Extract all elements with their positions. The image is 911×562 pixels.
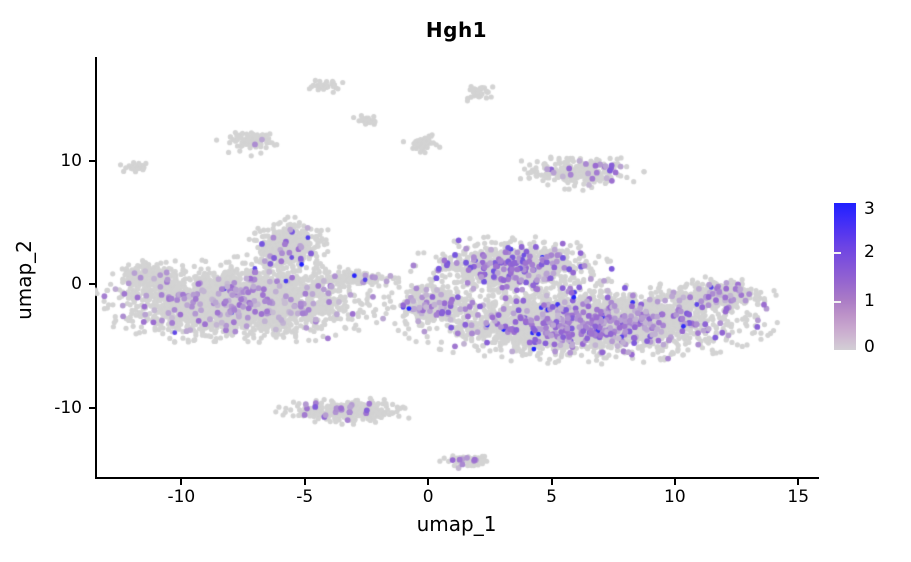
x-tick-mark: [797, 479, 799, 485]
x-tick-label: 10: [664, 487, 686, 507]
colorbar-tick-label: 0: [864, 337, 875, 357]
colorbar: 0123: [834, 203, 904, 350]
y-tick-mark: [89, 283, 95, 285]
colorbar-tick-mark: [834, 252, 841, 254]
y-tick-mark: [89, 407, 95, 409]
colorbar-tick-label: 1: [864, 291, 875, 311]
y-tick-label: -10: [54, 398, 82, 418]
colorbar-tick-label: 2: [864, 242, 875, 262]
y-tick-label: 0: [71, 274, 82, 294]
x-tick-label: 5: [546, 487, 557, 507]
scatter-canvas: [95, 57, 818, 478]
x-tick-mark: [551, 479, 553, 485]
x-tick-mark: [427, 479, 429, 485]
x-tick-label: -10: [167, 487, 195, 507]
y-tick-mark: [89, 160, 95, 162]
umap-feature-plot: Hgh1 -10-5051015 -10010 umap_1 umap_2 01…: [0, 0, 911, 562]
page-title: Hgh1: [95, 18, 818, 42]
x-tick-label: 0: [423, 487, 434, 507]
x-tick-label: -5: [296, 487, 313, 507]
plot-area: [95, 57, 818, 478]
x-tick-mark: [304, 479, 306, 485]
x-axis-label: umap_1: [95, 512, 818, 536]
colorbar-tick-mark: [834, 301, 841, 303]
colorbar-gradient: [834, 203, 856, 350]
x-tick-mark: [674, 479, 676, 485]
y-axis-label: umap_2: [12, 180, 36, 380]
x-tick-label: 15: [787, 487, 809, 507]
x-tick-mark: [180, 479, 182, 485]
y-tick-label: 10: [60, 151, 82, 171]
colorbar-tick-label: 3: [864, 199, 875, 219]
